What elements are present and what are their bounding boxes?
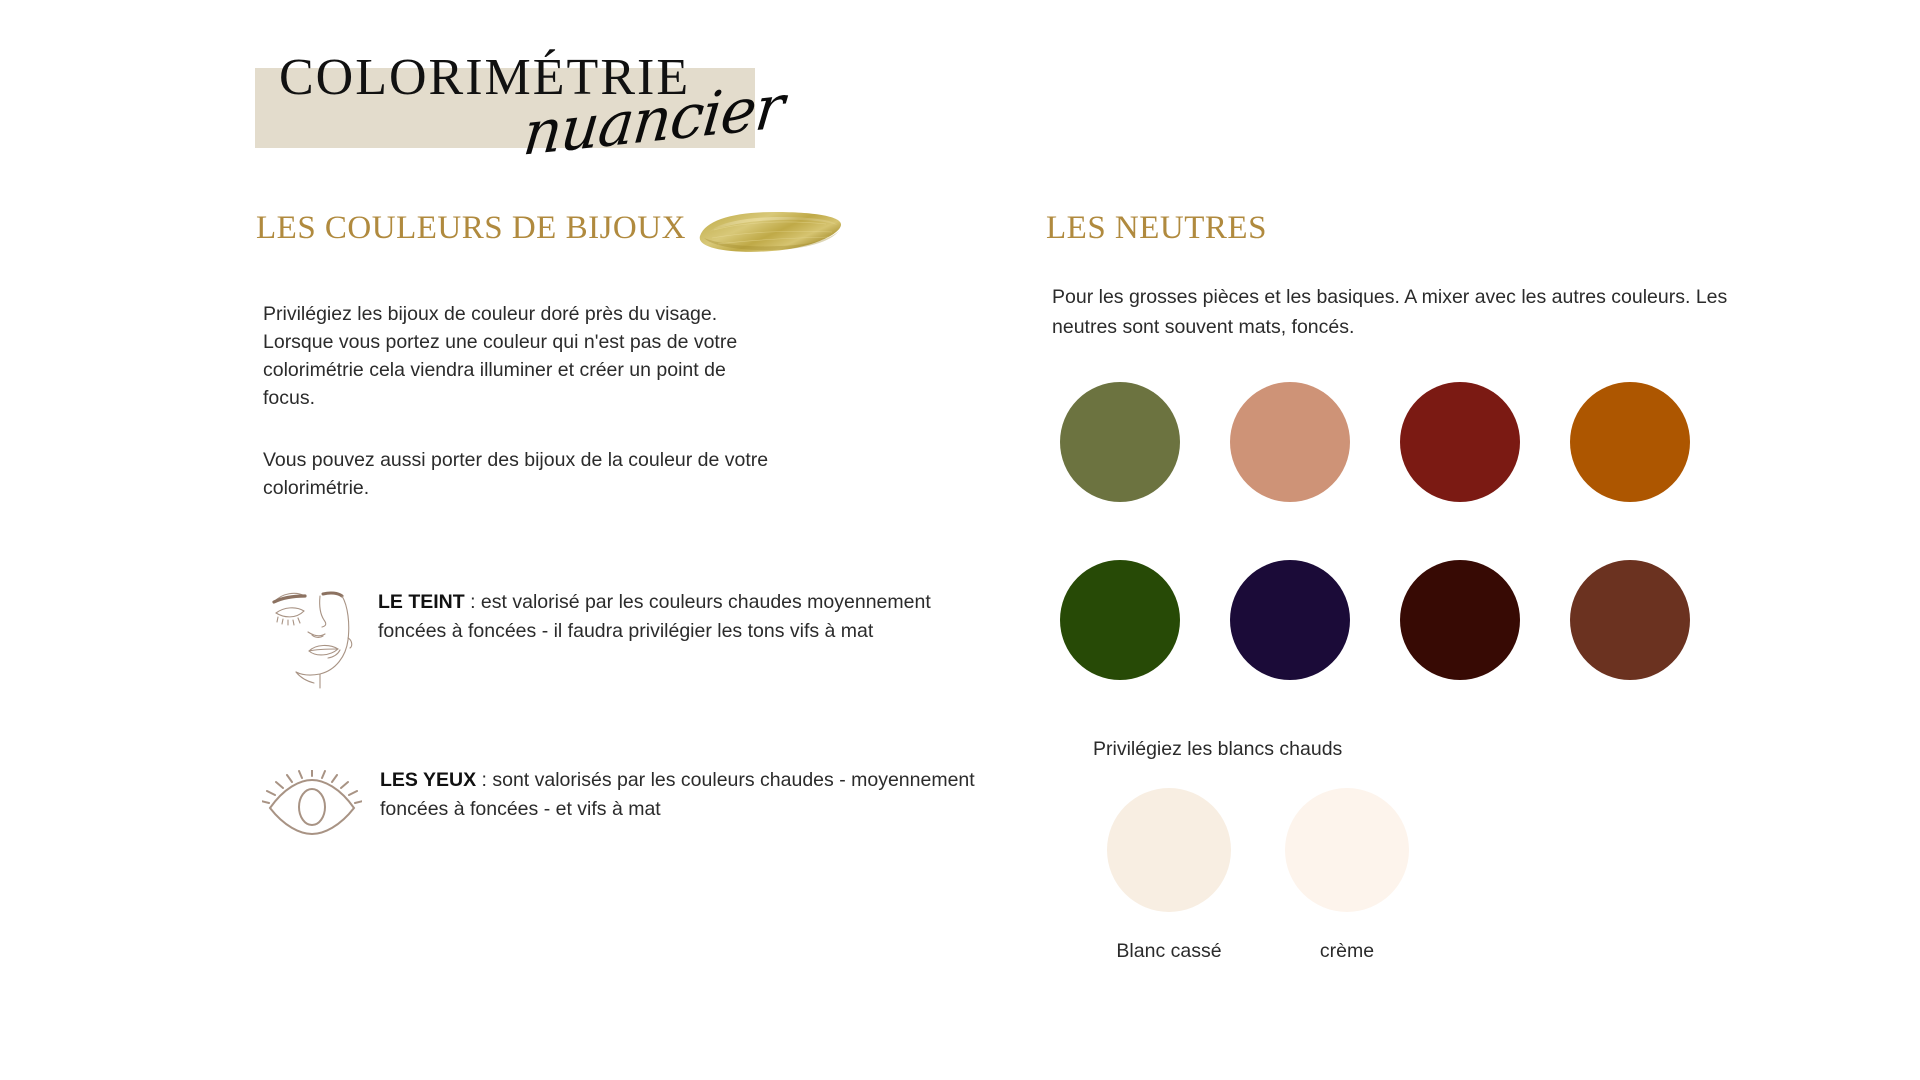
swatch-dark-maroon xyxy=(1400,560,1520,680)
eye-icon xyxy=(262,770,362,840)
light-swatch-cell: crème xyxy=(1258,788,1436,963)
swatch-olive-green xyxy=(1060,382,1180,502)
neutral-swatch-grid xyxy=(1060,382,1740,738)
section-heading-bijoux: LES COULEURS DE BIJOUX xyxy=(256,210,686,247)
light-swatch-cell: Blanc cassé xyxy=(1080,788,1258,963)
slide-page: COLORIMÉTRIE nuancier LES COULEURS DE BI… xyxy=(0,0,1920,1080)
bijoux-paragraph-2: Vous pouvez aussi porter des bijoux de l… xyxy=(263,446,773,502)
swatch-creme xyxy=(1285,788,1409,912)
swatch-label-blanc-casse: Blanc cassé xyxy=(1116,940,1221,963)
swatch-blanc-casse xyxy=(1107,788,1231,912)
left-column: LES COULEURS DE BIJOUX xyxy=(0,0,1020,1080)
warm-white-swatch-grid: Blanc cassécrème xyxy=(1080,788,1436,963)
feature-yeux-label: LES YEUX xyxy=(380,769,476,791)
face-profile-icon xyxy=(268,580,360,690)
swatch-chestnut-brown xyxy=(1570,560,1690,680)
feature-yeux-text: LES YEUX : sont valorisés par les couleu… xyxy=(380,760,980,824)
feature-teint: LE TEINT : est valorisé par les couleurs… xyxy=(268,580,938,690)
section-heading-neutres: LES NEUTRES xyxy=(1046,210,1267,247)
swatch-label-creme: crème xyxy=(1320,940,1374,963)
gold-brush-stroke-icon xyxy=(694,206,844,256)
feature-teint-label: LE TEINT xyxy=(378,591,465,613)
neutres-description: Pour les grosses pièces et les basiques.… xyxy=(1052,282,1792,342)
feature-teint-text: LE TEINT : est valorisé par les couleurs… xyxy=(378,580,938,646)
swatch-dark-indigo xyxy=(1230,560,1350,680)
swatch-salmon-tan xyxy=(1230,382,1350,502)
swatch-burnt-orange xyxy=(1570,382,1690,502)
feature-yeux: LES YEUX : sont valorisés par les couleu… xyxy=(262,760,980,840)
swatch-forest-green xyxy=(1060,560,1180,680)
bijoux-paragraph-1: Privilégiez les bijoux de couleur doré p… xyxy=(263,300,773,412)
warm-white-label: Privilégiez les blancs chauds xyxy=(1093,738,1342,761)
swatch-brick-red xyxy=(1400,382,1520,502)
